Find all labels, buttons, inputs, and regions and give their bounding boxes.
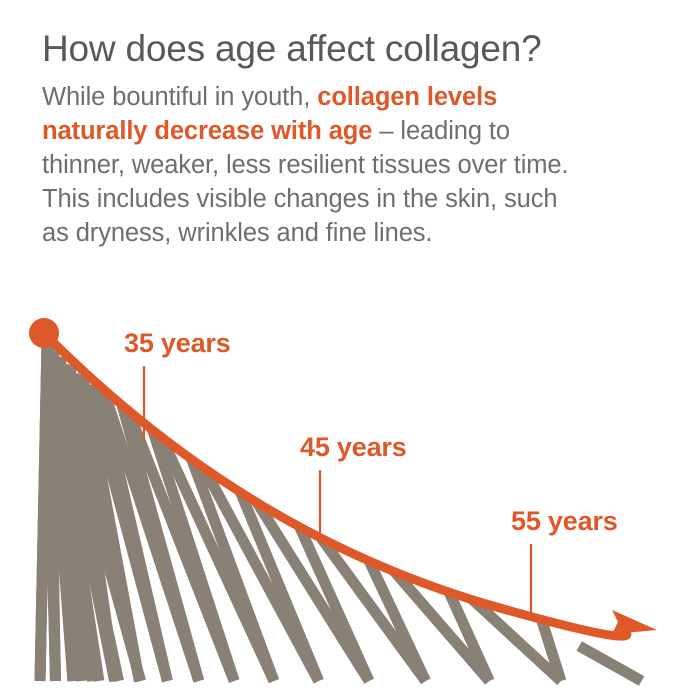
body-emphasis-2-1: naturally decrease with age xyxy=(42,117,372,145)
curve-origin-dot xyxy=(29,318,59,348)
page-title: How does age affect collagen? xyxy=(42,26,652,72)
infographic-page: 35 years45 years55 years How does age af… xyxy=(0,0,700,700)
age-label-0: 35 years xyxy=(124,328,231,358)
age-label-1: 45 years xyxy=(300,432,407,462)
body-paragraph: While bountiful in youth, collagen level… xyxy=(42,80,652,250)
body-text-3-1: thinner, weaker, less resilient tissues … xyxy=(42,151,568,179)
body-line-4: This includes visible changes in the ski… xyxy=(42,182,652,216)
body-text-5-1: as dryness, wrinkles and fine lines. xyxy=(42,219,432,247)
body-line-1: While bountiful in youth, collagen level… xyxy=(42,80,652,114)
body-line-5: as dryness, wrinkles and fine lines. xyxy=(42,216,652,250)
body-line-2: naturally decrease with age – leading to xyxy=(42,114,652,148)
body-text-1-1: While bountiful in youth, xyxy=(42,83,317,111)
body-text-4-1: This includes visible changes in the ski… xyxy=(42,185,558,213)
age-label-2: 55 years xyxy=(511,506,618,536)
curve-arrowhead xyxy=(612,610,657,634)
body-emphasis-1-2: collagen levels xyxy=(317,83,497,111)
text-block: How does age affect collagen? While boun… xyxy=(42,26,652,250)
body-text-2-2: – leading to xyxy=(372,117,510,145)
body-line-3: thinner, weaker, less resilient tissues … xyxy=(42,148,652,182)
collagen-fiber xyxy=(579,646,641,681)
